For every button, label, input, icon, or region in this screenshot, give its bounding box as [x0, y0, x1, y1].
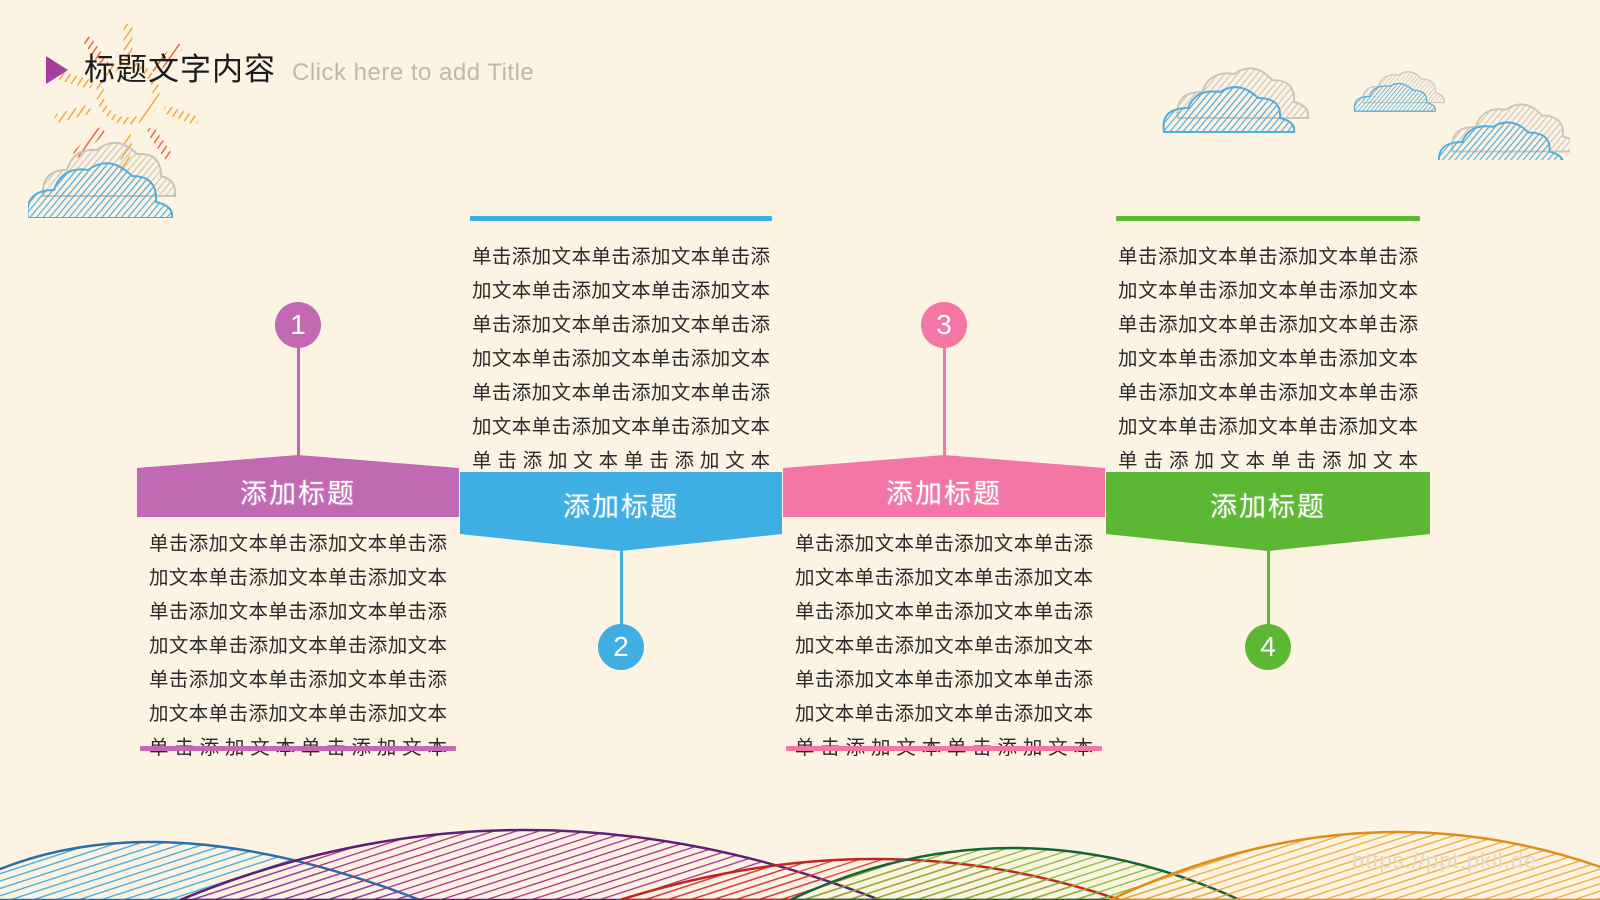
page-subtitle-placeholder[interactable]: Click here to add Title — [292, 61, 534, 85]
banner-3[interactable]: 添加标题 — [783, 455, 1105, 517]
column-4: 单击添加文本单击添加文本单击添加文本单击添加文本单击添加文本单击添加文本单击添加… — [1106, 0, 1430, 900]
column-2: 单击添加文本单击添加文本单击添加文本单击添加文本单击添加文本单击添加文本单击添加… — [460, 0, 782, 900]
step-badge-4[interactable]: 4 — [1245, 624, 1291, 670]
step-badge-3[interactable]: 3 — [921, 302, 967, 348]
page-title[interactable]: 标题文字内容 — [84, 54, 276, 85]
connector-line-1 — [297, 348, 300, 458]
column-1: 1 添加标题 单击添加文本单击添加文本单击添加文本单击添加文本单击添加文本单击添… — [137, 0, 459, 900]
triangle-right-icon — [46, 56, 68, 84]
overline-rule-2 — [470, 216, 772, 221]
connector-line-2 — [620, 548, 623, 626]
step-badge-2[interactable]: 2 — [598, 624, 644, 670]
column-3: 3 添加标题 单击添加文本单击添加文本单击添加文本单击添加文本单击添加文本单击添… — [783, 0, 1105, 900]
banner-title-1: 添加标题 — [137, 472, 459, 511]
banner-2[interactable]: 添加标题 — [460, 472, 782, 551]
slide-canvas: https://ppt.pkll.de 标题文字内容 Click here to… — [0, 0, 1600, 900]
body-text-4[interactable]: 单击添加文本单击添加文本单击添加文本单击添加文本单击添加文本单击添加文本单击添加… — [1118, 240, 1418, 478]
banner-1[interactable]: 添加标题 — [137, 455, 459, 517]
underline-rule-1 — [140, 746, 456, 751]
body-text-3[interactable]: 单击添加文本单击添加文本单击添加文本单击添加文本单击添加文本单击添加文本单击添加… — [795, 527, 1093, 765]
watermark: https://ppt.pkll.de — [1352, 848, 1537, 874]
banner-4[interactable]: 添加标题 — [1106, 472, 1430, 551]
banner-title-2: 添加标题 — [460, 485, 782, 524]
underline-rule-3 — [786, 746, 1102, 751]
body-text-2[interactable]: 单击添加文本单击添加文本单击添加文本单击添加文本单击添加文本单击添加文本单击添加… — [472, 240, 770, 478]
banner-title-4: 添加标题 — [1106, 485, 1430, 524]
connector-line-4 — [1267, 548, 1270, 626]
connector-line-3 — [943, 348, 946, 458]
step-badge-1[interactable]: 1 — [275, 302, 321, 348]
overline-rule-4 — [1116, 216, 1420, 221]
page-header: 标题文字内容 Click here to add Title — [46, 52, 534, 85]
banner-title-3: 添加标题 — [783, 472, 1105, 511]
body-text-1[interactable]: 单击添加文本单击添加文本单击添加文本单击添加文本单击添加文本单击添加文本单击添加… — [149, 527, 447, 765]
